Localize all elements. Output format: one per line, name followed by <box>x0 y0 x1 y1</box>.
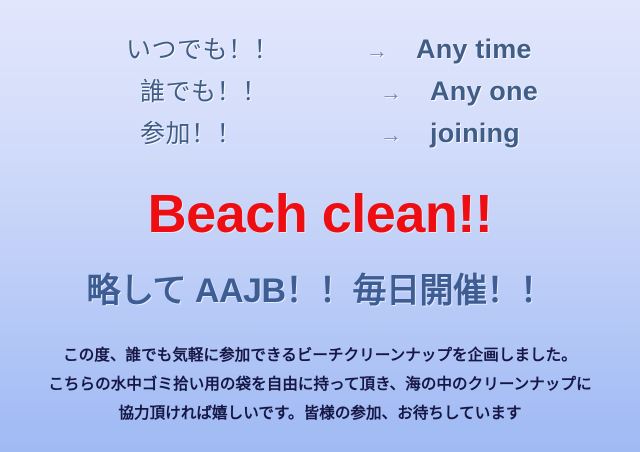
tagline-row: 参加！！ → joining <box>0 114 640 156</box>
body-line-3: 協力頂ければ嬉しいです。皆様の参加、お待ちしています <box>0 399 640 428</box>
tagline-english-2: Any one <box>430 76 640 107</box>
tagline-english-3: joining <box>430 118 640 149</box>
arrow-right-icon: → <box>352 82 430 104</box>
tagline-list: いつでも！！ → Any time 誰でも！！ → Any one 参加！！ →… <box>0 30 640 156</box>
arrow-right-icon: → <box>338 40 416 62</box>
tagline-japanese-1: いつでも！！ <box>126 30 338 66</box>
poster-canvas: いつでも！！ → Any time 誰でも！！ → Any one 参加！！ →… <box>0 0 640 452</box>
tagline-row: いつでも！！ → Any time <box>0 30 640 72</box>
tagline-japanese-3: 参加！！ <box>140 114 352 150</box>
tagline-english-1: Any time <box>416 34 640 65</box>
tagline-japanese-2: 誰でも！！ <box>140 72 352 108</box>
headline-title: Beach clean!! <box>0 186 640 243</box>
tagline-row: 誰でも！！ → Any one <box>0 72 640 114</box>
arrow-right-icon: → <box>352 124 430 146</box>
body-line-2: こちらの水中ゴミ拾い用の袋を自由に持って頂き、海の中のクリーンナップに <box>0 370 640 399</box>
body-paragraph: この度、誰でも気軽に参加できるビーチクリーンナップを企画しました。 こちらの水中… <box>0 341 640 428</box>
body-line-1: この度、誰でも気軽に参加できるビーチクリーンナップを企画しました。 <box>0 341 640 370</box>
subheadline-title: 略して AAJB！！毎日開催！！ <box>0 271 640 312</box>
